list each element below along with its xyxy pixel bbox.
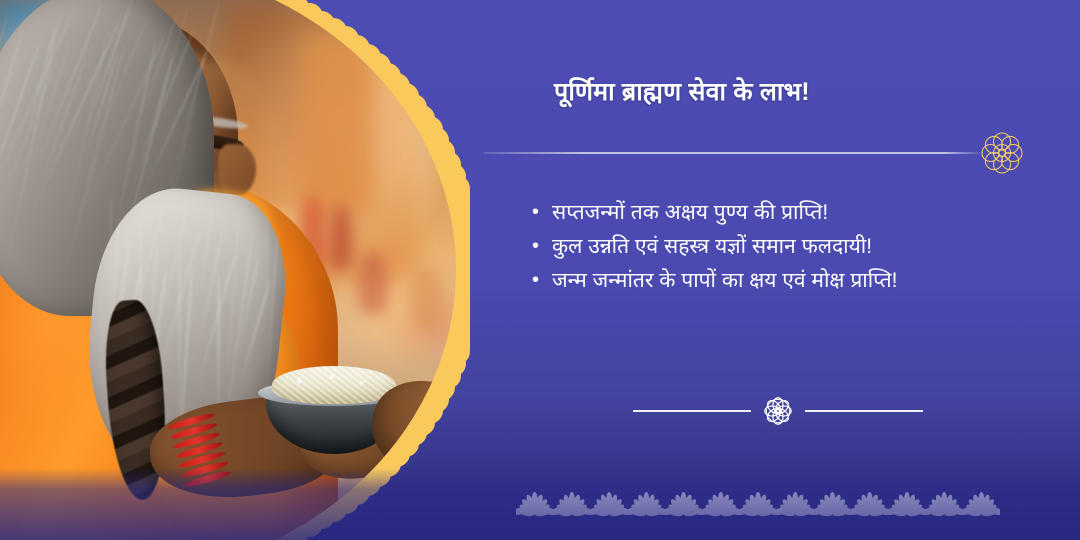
flower-rosette-icon [760,393,796,429]
divider-line-right [805,410,923,412]
sadhu-figure [0,0,456,540]
mandala-rosette-icon [976,127,1028,179]
benefit-text: सप्तजन्मों तक अक्षय पुण्य की प्राप्ति! [552,196,1052,230]
flower-divider [613,390,943,432]
bullet-dot-icon: • [532,230,552,262]
nose [218,144,256,196]
robe-fold [0,507,38,540]
benefit-text: जन्म जन्मांतर के पापों का क्षय एवं मोक्ष… [552,264,1052,298]
photo-clip-mask [0,0,456,540]
divider-line-left [633,410,751,412]
rice-prasad [272,366,396,404]
lotus-motif [958,492,1000,517]
sadhu-offering-bowl-photo [0,0,456,540]
content-panel: पूर्णिमा ब्राह्मण सेवा के लाभ! •सप्तजन्म… [470,0,1080,540]
benefit-item: •जन्म जन्मांतर के पापों का क्षय एवं मोक्… [532,264,1052,298]
lotus-border-icon [516,480,1000,522]
benefit-item: •कुल उन्नति एवं सहस्त्र यज्ञों समान फलदा… [532,230,1052,264]
bullet-dot-icon: • [532,196,552,228]
benefit-text: कुल उन्नति एवं सहस्त्र यज्ञों समान फलदाय… [552,230,1052,264]
page-title: पूर्णिमा ब्राह्मण सेवा के लाभ! [554,76,1054,110]
benefits-list: •सप्तजन्मों तक अक्षय पुण्य की प्राप्ति!•… [532,196,1052,298]
bullet-dot-icon: • [532,264,552,296]
benefit-item: •सप्तजन्मों तक अक्षय पुण्य की प्राप्ति! [532,196,1052,230]
photo-panel [0,0,470,540]
poster-canvas: पूर्णिमा ब्राह्मण सेवा के लाभ! •सप्तजन्म… [0,0,1080,540]
beard-wisp [109,196,112,286]
title-divider-rule [484,152,984,154]
